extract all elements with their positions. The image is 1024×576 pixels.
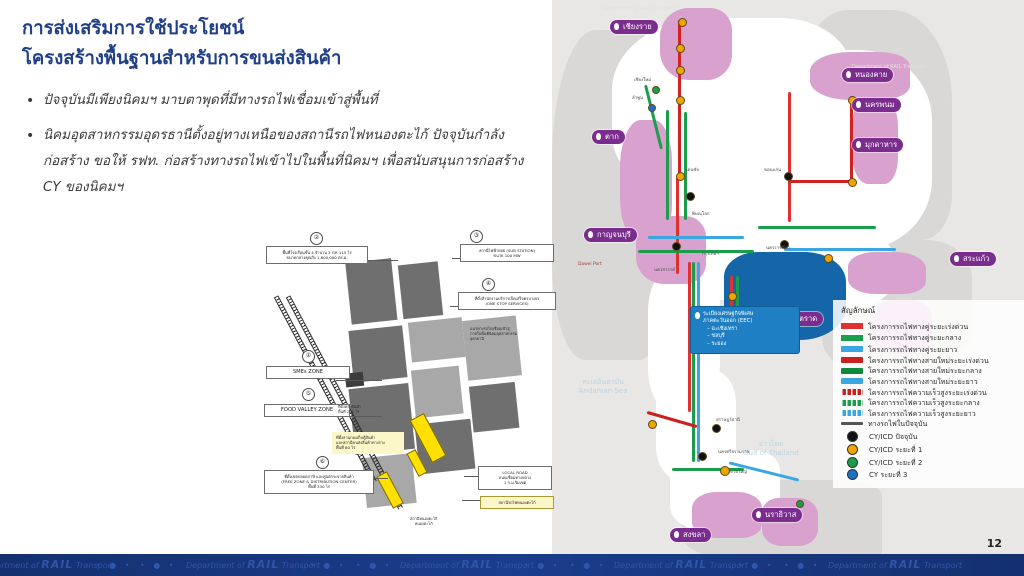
rail-line-double-medium-north2 xyxy=(666,110,669,220)
eec-info-box: ระเบียงเศรษฐกิจพิเศษ ภาคตะวันออก (EEC) –… xyxy=(690,306,800,354)
legend-label: โครงการรถไฟทางสายใหม่ระยะกลาง xyxy=(868,366,982,375)
legend-row: โครงการรถไฟทางสายใหม่ระยะเร่งด่วน xyxy=(838,356,1024,365)
footer-watermark-post: Transport xyxy=(924,561,962,570)
map-province-chiangrai xyxy=(660,8,732,80)
legend-label: ทางรถไฟในปัจจุบัน xyxy=(868,419,927,428)
legend-dot-cy-icd-current xyxy=(847,431,858,442)
footer-dots: • ● • xyxy=(738,561,775,570)
map-city-label: กรุงเทพฯ xyxy=(702,252,719,258)
node-cy-icd-phase1 xyxy=(824,254,833,263)
footer-watermark-pre: Department of xyxy=(400,561,459,570)
bullet-marker-icon: • xyxy=(26,88,43,114)
list-item: • นิคมอุตสาหกรรมอุดรธานีตั้งอยู่ทางเหนือ… xyxy=(26,123,536,201)
footer-dots: • ● • xyxy=(570,561,607,570)
footer-watermark: Department of RAIL Transport xyxy=(186,558,320,571)
node-cy-icd-current xyxy=(712,424,721,433)
bullet-list: • ปัจจุบันมีเพียงนิคมฯ มาบตาพุดที่มีทางร… xyxy=(26,88,536,210)
legend-row: CY/ICD ระยะที่ 2 xyxy=(838,457,1024,468)
footer-bar: Department of RAIL Transport • ● • • ● •… xyxy=(0,554,1024,576)
map-badge-chiangrai: เชียงราย xyxy=(610,20,658,34)
estate-callout-5-line1: FOOD VALLEY ZONE xyxy=(269,408,345,413)
legend-swatch-existing-rail xyxy=(841,422,863,425)
legend-row: โครงการรถไฟทางคู่ระยะยาว xyxy=(838,344,1024,354)
eec-title-line-2: ภาคตะวันออก (EEC) xyxy=(703,318,795,325)
footer-watermark-brand: RAIL xyxy=(247,558,279,571)
legend-dot-cy-phase3 xyxy=(847,469,858,480)
map-province-sakaeo xyxy=(848,252,926,294)
node-cy-icd-current xyxy=(698,452,707,461)
estate-parcel xyxy=(398,261,443,319)
estate-callout-3: สถานีไฟฟ้าย่อย (SUB STATION) ขนาด 100 MW xyxy=(460,244,554,262)
map-watermark: Department of RAIL Transport xyxy=(602,6,676,13)
map-province-narathiwat xyxy=(762,498,818,546)
node-cy-icd-phase1 xyxy=(676,44,685,53)
rail-line-new-medium-west xyxy=(638,250,754,253)
estate-note-local-road: LOCAL ROAD ถนนเชื่อมทางหลวง 1 ก.ม.ริมเขต xyxy=(478,466,552,490)
legend-label: โครงการรถไฟทางคู่ระยะยาว xyxy=(868,345,957,354)
legend-dot-cy-icd-phase2 xyxy=(847,457,858,468)
footer-dots: • ● • xyxy=(310,561,347,570)
footer-watermark-brand: RAIL xyxy=(889,558,921,571)
map-badge-nongkhai: หนองคาย xyxy=(842,68,893,82)
legend-label: โครงการรถไฟทางคู่ระยะเร่งด่วน xyxy=(868,322,968,331)
footer-watermark: Department of RAIL Transport xyxy=(828,558,962,571)
legend-swatch-double-long xyxy=(841,344,863,354)
footer-watermark-pre: Department of xyxy=(828,561,887,570)
bullet-marker-icon: • xyxy=(26,123,43,149)
sea-label-andaman-th: ทะเลอันดามัน xyxy=(560,378,646,387)
estate-callout-4-line2: (ONE STOP SERVICES) xyxy=(463,301,551,306)
map-city-label: ขอนแก่น xyxy=(764,168,781,174)
bullet-text: ปัจจุบันมีเพียงนิคมฯ มาบตาพุดที่มีทางรถไ… xyxy=(43,88,378,114)
legend-label: CY/ICD ระยะที่ 2 xyxy=(869,458,922,467)
sea-label-andaman: ทะเลอันดามัน Andaman Sea xyxy=(560,378,646,396)
footer-watermark-pre: Department of xyxy=(0,561,39,570)
rail-line-double-urgent-central xyxy=(676,176,679,274)
footer-watermark-pre: Department of xyxy=(614,561,673,570)
estate-callout-3-line2: ขนาด 100 MW xyxy=(465,253,549,258)
legend-label: CY/ICD ปัจจุบัน xyxy=(869,432,917,441)
eec-item-chonburi: – ชลบุรี xyxy=(703,333,795,340)
estate-number-3: ③ xyxy=(470,230,483,243)
bullet-text: นิคมอุตสาหกรรมอุดรธานีตั้งอยู่ทางเหนือขอ… xyxy=(43,123,536,201)
map-badge-tak: ตาก xyxy=(592,130,625,144)
legend-swatch-double-medium xyxy=(841,333,863,343)
legend-swatch-new-urgent xyxy=(841,357,863,363)
rail-line-double-long-west xyxy=(648,236,744,239)
legend-swatch-new-medium xyxy=(841,368,863,374)
map-city-label: Dawei Port xyxy=(578,262,602,268)
map-badge-sakaeo: สระแก้ว xyxy=(950,252,996,266)
legend-row: โครงการรถไฟความเร็วสูงระยะกลาง xyxy=(838,398,1024,407)
estate-callout-2-line2: ขนาดกลางคุณถึง 1,800,000 ตร.ม. xyxy=(271,255,363,260)
rail-line-south-green xyxy=(692,262,695,462)
map-watermark-brand: RAIL xyxy=(640,6,651,12)
legend-row: โครงการรถไฟความเร็วสูงระยะเร่งด่วน xyxy=(838,388,1024,397)
map-badge-songkhla: สงขลา xyxy=(670,528,711,542)
footer-watermark: Department of RAIL Transport xyxy=(400,558,534,571)
estate-note-warehouse: ที่ตั้งคลังสินค้า พื้นที่ 215 ไร่ xyxy=(338,404,361,414)
rail-line-south-blue xyxy=(697,262,700,462)
eec-item-rayong: – ระยอง xyxy=(703,341,795,348)
title-line-2: โครงสร้างพื้นฐานสำหรับการขนส่งสินค้า xyxy=(22,44,542,74)
node-cy-icd-current xyxy=(784,172,793,181)
estate-number-6: ⑥ xyxy=(316,456,329,469)
node-cy-icd-phase1 xyxy=(720,466,730,476)
estate-note-station-name: สถานีหนองตะไก้ หนองตะไก้ xyxy=(410,516,437,526)
legend-row: โครงการรถไฟทางคู่ระยะเร่งด่วน xyxy=(838,321,1024,331)
estate-callout-2: พื้นที่โรงเรือนขั้น 4 จำนวน 2 GR 115 ไร่… xyxy=(266,246,368,264)
node-cy-icd-phase1 xyxy=(648,420,657,429)
rail-line-new-urgent-eastnortheast xyxy=(788,180,854,183)
estate-callout-4: ที่ตั้งสำนักงานบริการเบ็ดเสร็จครบวงจร (O… xyxy=(458,292,556,310)
rail-line-double-medium-north3 xyxy=(684,112,687,220)
rail-line-double-long-east xyxy=(784,248,896,251)
map-legend: สัญลักษณ์ โครงการรถไฟทางคู่ระยะเร่งด่วน … xyxy=(833,300,1024,488)
footer-dots: • ● • xyxy=(96,561,133,570)
footer-watermark-brand: RAIL xyxy=(675,558,707,571)
udonthani-industrial-estate-plan: ② ③ ④ ① ⑤ ⑥ พื้นที่โรงเรือนขั้น 4 จำนวน … xyxy=(262,228,550,548)
legend-row: CY/ICD ระยะที่ 1 xyxy=(838,444,1024,455)
estate-number-5: ⑤ xyxy=(302,388,315,401)
rail-line-new-medium-northeast xyxy=(758,226,876,229)
estate-note-cy-yard: ที่ตั้งลานกองเก็บตู้สินค้า และสถานีขนส่ง… xyxy=(332,432,404,454)
map-city-label: สุราษฎร์ธานี xyxy=(716,418,740,424)
legend-label: CY/ICD ระยะที่ 1 xyxy=(869,445,922,454)
legend-title: สัญลักษณ์ xyxy=(841,304,1024,317)
node-cy-icd-current xyxy=(686,192,695,201)
thailand-rail-network-map: อ่าวไทย Gulf of Thailand ทะเลอันดามัน An… xyxy=(552,0,1024,556)
estate-number-4: ④ xyxy=(482,278,495,291)
legend-row: โครงการรถไฟความเร็วสูงระยะยาว xyxy=(838,409,1024,418)
footer-dots: • ● • xyxy=(140,561,177,570)
map-city-label: นครศรีธรรมราช xyxy=(718,450,750,456)
map-badge-mukdahan: มุกดาหาร xyxy=(852,138,903,152)
map-city-label: นครสวรรค์ xyxy=(654,268,675,274)
node-cy-icd-phase2 xyxy=(652,86,660,94)
footer-watermark: Department of RAIL Transport xyxy=(614,558,748,571)
estate-number-2: ② xyxy=(310,232,323,245)
footer-dots: • ● • xyxy=(356,561,393,570)
map-city-label: นครราชสีมา xyxy=(766,246,790,252)
estate-callout-1-line1: SMEs ZONE xyxy=(271,370,345,375)
estate-number-1: ① xyxy=(302,350,315,363)
estate-callout-6-line3: พื้นที่ 230 ไร่ xyxy=(269,484,369,489)
legend-swatch-new-long xyxy=(841,378,863,384)
legend-label: CY ระยะที่ 3 xyxy=(869,470,907,479)
legend-row: โครงการรถไฟทางคู่ระยะกลาง xyxy=(838,333,1024,343)
legend-label: โครงการรถไฟทางคู่ระยะกลาง xyxy=(868,333,961,342)
map-city-label: พิษณุโลก xyxy=(692,212,710,218)
rail-line-double-urgent-northeast xyxy=(788,92,791,222)
estate-parcel xyxy=(345,258,397,324)
estate-leader-line xyxy=(336,380,382,381)
legend-label: โครงการรถไฟทางสายใหม่ระยะยาว xyxy=(868,377,978,386)
estate-parcel xyxy=(411,366,464,419)
legend-row: CY ระยะที่ 3 xyxy=(838,469,1024,480)
node-cy-phase3 xyxy=(796,500,804,508)
legend-label: โครงการรถไฟความเร็วสูงระยะเร่งด่วน xyxy=(868,388,987,397)
list-item: • ปัจจุบันมีเพียงนิคมฯ มาบตาพุดที่มีทางร… xyxy=(26,88,536,114)
sea-label-andaman-en: Andaman Sea xyxy=(560,387,646,396)
legend-label: โครงการรถไฟทางสายใหม่ระยะเร่งด่วน xyxy=(868,356,989,365)
node-cy-icd-phase1 xyxy=(848,178,857,187)
map-city-label: เด่นชัย xyxy=(686,168,699,174)
map-watermark-post: Transport xyxy=(903,64,926,70)
sea-label-gulf-th: อ่าวไทย xyxy=(726,440,816,449)
node-cy-icd-phase1 xyxy=(728,292,737,301)
map-badge-kanchanaburi: กาญจนบุรี xyxy=(584,228,637,242)
footer-watermark-pre: Department of xyxy=(186,561,245,570)
map-watermark-pre: Department of xyxy=(602,6,639,12)
page-title: การส่งเสริมการใช้ประโยชน์ โครงสร้างพื้นฐ… xyxy=(22,14,542,74)
estate-note-rail-connection: แนวทางรถไฟเชื่อมเข้าสู่ ภายในพื้นที่นิคม… xyxy=(470,326,517,341)
node-cy-icd-phase1 xyxy=(676,96,685,105)
legend-label: โครงการรถไฟความเร็วสูงระยะกลาง xyxy=(868,398,980,407)
legend-label: โครงการรถไฟความเร็วสูงระยะยาว xyxy=(868,409,976,418)
estate-callout-1: SMEs ZONE xyxy=(266,366,350,379)
node-cy-icd-phase1 xyxy=(676,172,685,181)
map-city-label: หาดใหญ่ xyxy=(730,470,747,476)
estate-parcel xyxy=(408,317,466,362)
node-cy-phase3 xyxy=(648,104,656,112)
node-cy-icd-phase1 xyxy=(678,18,687,27)
footer-watermark-brand: RAIL xyxy=(461,558,493,571)
estate-callout-6: ที่ตั้งเขตปลอดภาษี และศูนย์กระจายสินค้า … xyxy=(264,470,374,494)
legend-row: โครงการรถไฟทางสายใหม่ระยะยาว xyxy=(838,377,1024,386)
map-city-label: เชียงใหม่ xyxy=(634,78,651,84)
estate-parcel xyxy=(469,382,520,433)
legend-row: ทางรถไฟในปัจจุบัน xyxy=(838,419,1024,428)
title-line-1: การส่งเสริมการใช้ประโยชน์ xyxy=(22,14,542,44)
legend-row: CY/ICD ปัจจุบัน xyxy=(838,431,1024,442)
node-cy-icd-current xyxy=(672,242,681,251)
estate-note-station: สถานีรถไฟหนองตะไก้ xyxy=(480,496,554,509)
footer-dots: • ● • xyxy=(524,561,561,570)
map-badge-narathiwat: นราธิวาส xyxy=(752,508,802,522)
legend-row: โครงการรถไฟทางสายใหม่ระยะกลาง xyxy=(838,366,1024,375)
legend-swatch-hsr-medium xyxy=(841,400,863,406)
legend-swatch-hsr-long xyxy=(841,410,863,416)
map-badge-nakhonphanom: นครพนม xyxy=(852,98,901,112)
legend-dot-cy-icd-phase1 xyxy=(847,444,858,455)
node-cy-icd-phase1 xyxy=(676,66,685,75)
legend-swatch-double-urgent xyxy=(841,321,863,331)
page-number: 12 xyxy=(987,537,1002,550)
map-city-label: ลำพูน xyxy=(632,96,643,102)
footer-dots: • ● • xyxy=(784,561,821,570)
legend-swatch-hsr-urgent xyxy=(841,389,863,395)
map-watermark-post: Transport xyxy=(653,6,676,12)
footer-watermark-brand: RAIL xyxy=(41,558,73,571)
map-watermark-brand: RAIL xyxy=(890,64,901,70)
